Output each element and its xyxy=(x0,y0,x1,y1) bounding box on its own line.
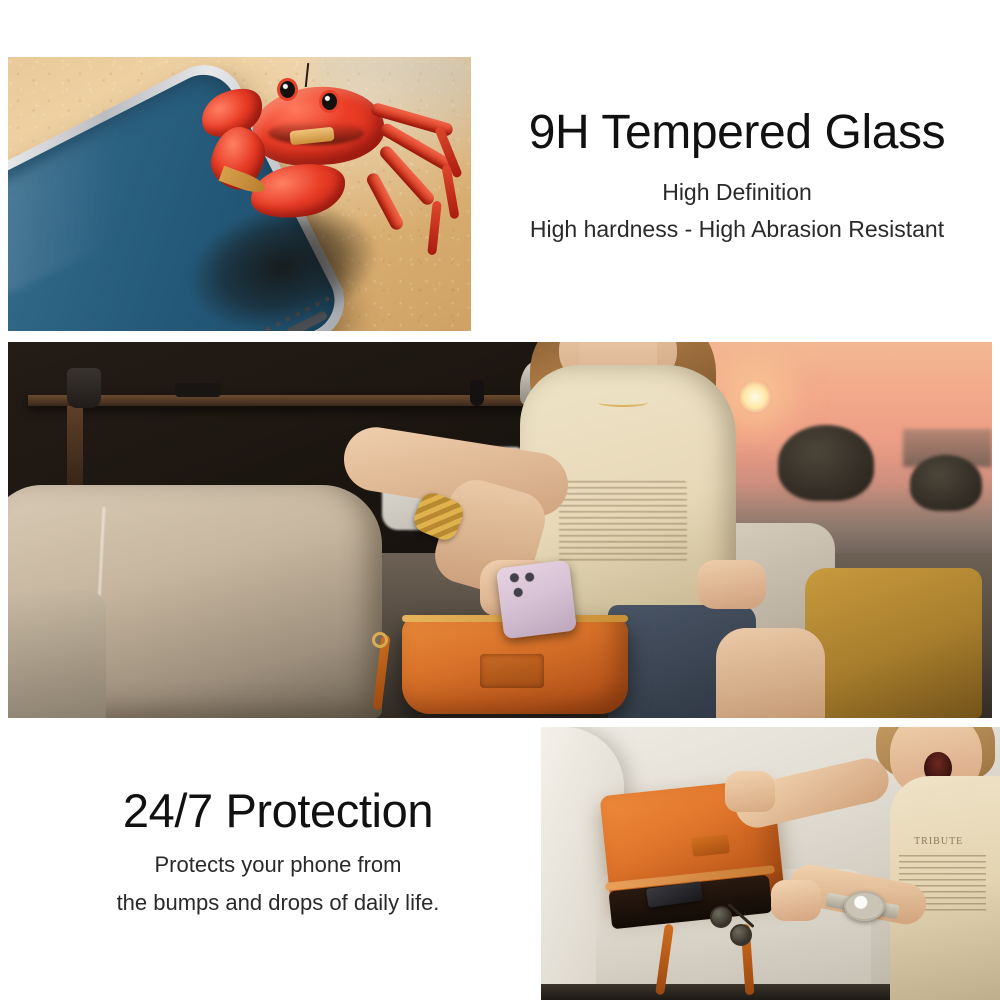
tempered-glass-subline-1: High Definition xyxy=(482,179,992,206)
protection-subline-2: the bumps and drops of daily life. xyxy=(28,890,528,916)
protection-text-block: 24/7 Protection Protects your phone from… xyxy=(28,786,528,916)
phone-camera-module xyxy=(504,568,541,602)
shelf-candle xyxy=(470,380,484,406)
crab xyxy=(194,69,462,277)
sunglasses xyxy=(706,904,779,948)
shelf-box xyxy=(175,383,221,397)
tempered-glass-headline: 9H Tempered Glass xyxy=(482,108,992,159)
protection-headline: 24/7 Protection xyxy=(28,786,528,836)
woman-leg xyxy=(716,628,824,718)
tank-top-printed-text xyxy=(559,481,687,564)
photo-crab-on-phone xyxy=(8,57,471,331)
crab-eye-left xyxy=(280,81,295,98)
crab-leg-4 xyxy=(365,171,406,232)
mustard-pillow xyxy=(805,568,982,718)
shocked-woman-hand-reaching xyxy=(771,880,821,921)
setting-sun xyxy=(738,380,772,414)
tempered-glass-subline-2: High hardness - High Abrasion Resistant xyxy=(482,216,992,243)
tempered-glass-text-block: 9H Tempered Glass High Definition High h… xyxy=(482,108,992,243)
tank-top-brand-text: TRIBUTE xyxy=(914,836,963,847)
protection-subline-1: Protects your phone from xyxy=(28,852,528,878)
crab-eye-right xyxy=(322,93,337,110)
tree-silhouette-2 xyxy=(910,455,982,511)
photo-woman-bag-livingroom xyxy=(8,342,992,718)
wristwatch xyxy=(844,891,885,921)
bag-front-tab xyxy=(480,654,544,688)
bag-strap-ring xyxy=(372,632,388,648)
shocked-woman-hand-on-bag xyxy=(725,771,775,812)
woman-hand-on-bag xyxy=(697,560,766,609)
sofa-cushion-left xyxy=(8,590,106,718)
shelf-vase-dark xyxy=(67,368,101,408)
sunglasses-lens-right xyxy=(730,924,752,946)
tree-silhouette-1 xyxy=(778,425,874,501)
photo-woman-shocked-bag: TRIBUTE xyxy=(541,727,1000,1000)
crab-leg-joint-3 xyxy=(427,201,442,256)
product-feature-banner: 9H Tempered Glass High Definition High h… xyxy=(0,0,1000,1000)
sunglasses-lens-left xyxy=(710,906,732,928)
